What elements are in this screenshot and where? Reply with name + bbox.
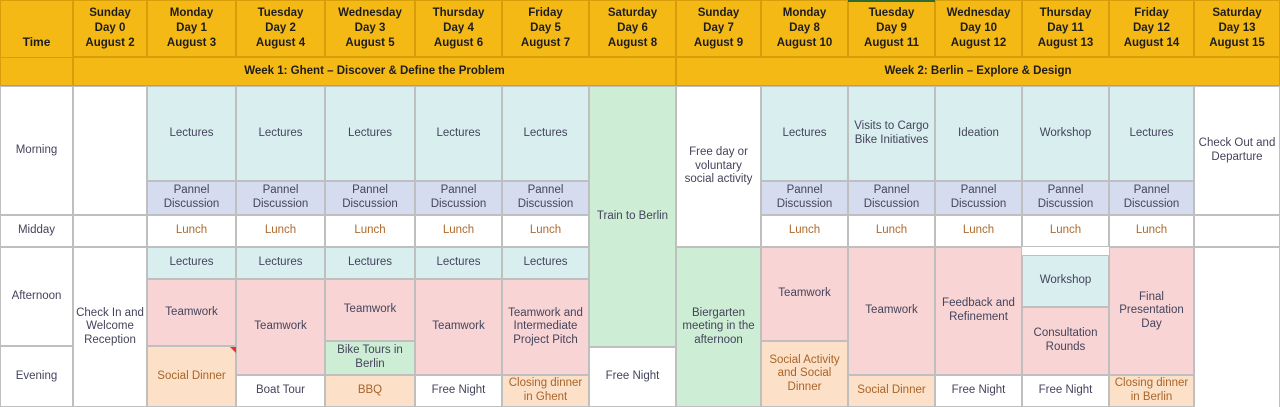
cell-day9-pannel-discussion[interactable]: Pannel Discussion xyxy=(848,181,935,215)
cell-day9-visits-cargo-bike[interactable]: Visits to Cargo Bike Initiatives xyxy=(848,86,935,181)
cell-day1-lectures-pm[interactable]: Lectures xyxy=(147,247,236,279)
active-column-indicator xyxy=(848,0,935,2)
cell-day11-pannel-discussion[interactable]: Pannel Discussion xyxy=(1022,181,1109,215)
header-daynum: Day 7 xyxy=(703,21,734,36)
cell-day5-closing-dinner-ghent[interactable]: Closing dinner in Ghent xyxy=(502,375,589,407)
header-daynum: Day 8 xyxy=(789,21,820,36)
cell-day10-feedback-refinement[interactable]: Feedback and Refinement xyxy=(935,247,1022,375)
header-weekday: Wednesday xyxy=(338,6,402,21)
header-weekday: Sunday xyxy=(698,6,740,21)
header-date: August 12 xyxy=(951,36,1007,51)
cell-day4-lectures-pm[interactable]: Lectures xyxy=(415,247,502,279)
cell-day6-free-night[interactable]: Free Night xyxy=(589,347,676,407)
header-day-8: Monday Day 8 August 10 xyxy=(761,0,848,57)
cell-day1-teamwork[interactable]: Teamwork xyxy=(147,279,236,346)
header-weekday: Saturday xyxy=(608,6,657,21)
cell-day11-lunch[interactable]: Lunch xyxy=(1022,215,1109,247)
header-day-2: Tuesday Day 2 August 4 xyxy=(236,0,325,57)
cell-day10-lunch[interactable]: Lunch xyxy=(935,215,1022,247)
cell-day3-teamwork[interactable]: Teamwork xyxy=(325,279,415,341)
cell-day3-bbq[interactable]: BBQ xyxy=(325,375,415,407)
header-date: August 13 xyxy=(1038,36,1094,51)
cell-day13-midday-empty[interactable] xyxy=(1194,215,1280,247)
header-day-1: Monday Day 1 August 3 xyxy=(147,0,236,57)
header-weekday: Tuesday xyxy=(869,6,915,21)
cell-day8-pannel-discussion[interactable]: Pannel Discussion xyxy=(761,181,848,215)
cell-day9-lunch[interactable]: Lunch xyxy=(848,215,935,247)
header-daynum: Day 5 xyxy=(530,21,561,36)
header-date: August 14 xyxy=(1124,36,1180,51)
header-weekday: Thursday xyxy=(433,6,485,21)
header-weekday: Friday xyxy=(528,6,563,21)
header-daynum: Day 1 xyxy=(176,21,207,36)
cell-day5-lunch[interactable]: Lunch xyxy=(502,215,589,247)
header-weekday: Thursday xyxy=(1040,6,1092,21)
header-date: August 9 xyxy=(694,36,743,51)
header-daynum: Day 6 xyxy=(617,21,648,36)
week-band-2: Week 2: Berlin – Explore & Design xyxy=(676,57,1280,86)
cell-day0-morning-empty[interactable] xyxy=(73,86,147,215)
cell-day11-consultation-rounds[interactable]: Consultation Rounds xyxy=(1022,307,1109,375)
cell-day13-checkout[interactable]: Check Out and Departure xyxy=(1194,86,1280,215)
header-weekday: Tuesday xyxy=(258,6,304,21)
row-label-evening: Evening xyxy=(0,346,73,407)
header-date: August 6 xyxy=(434,36,483,51)
header-day-9: Tuesday Day 9 August 11 xyxy=(848,0,935,57)
week-band-1: Week 1: Ghent – Discover & Define the Pr… xyxy=(73,57,676,86)
cell-day11-free-night[interactable]: Free Night xyxy=(1022,375,1109,407)
header-day-4: Thursday Day 4 August 6 xyxy=(415,0,502,57)
cell-day5-pannel-discussion[interactable]: Pannel Discussion xyxy=(502,181,589,215)
header-day-0: Sunday Day 0 August 2 xyxy=(73,0,147,57)
header-weekday: Friday xyxy=(1134,6,1169,21)
row-label-afternoon: Afternoon xyxy=(0,247,73,346)
header-date: August 5 xyxy=(345,36,394,51)
cell-day5-lectures-pm[interactable]: Lectures xyxy=(502,247,589,279)
cell-day3-pannel-discussion[interactable]: Pannel Discussion xyxy=(325,181,415,215)
cell-day9-teamwork[interactable]: Teamwork xyxy=(848,247,935,375)
cell-day10-ideation[interactable]: Ideation xyxy=(935,86,1022,181)
header-date: August 2 xyxy=(85,36,134,51)
header-daynum: Day 0 xyxy=(95,21,126,36)
row-label-midday: Midday xyxy=(0,215,73,247)
cell-day12-closing-dinner-berlin[interactable]: Closing dinner in Berlin xyxy=(1109,375,1194,407)
cell-day12-final-presentation[interactable]: Final Presentation Day xyxy=(1109,247,1194,375)
cell-day12-lectures[interactable]: Lectures xyxy=(1109,86,1194,181)
header-daynum: Day 11 xyxy=(1047,21,1083,36)
header-daynum: Day 9 xyxy=(876,21,907,36)
header-daynum: Day 4 xyxy=(443,21,474,36)
header-day-11: Thursday Day 11 August 13 xyxy=(1022,0,1109,57)
header-date: August 10 xyxy=(777,36,833,51)
header-date: August 8 xyxy=(608,36,657,51)
header-daynum: Day 3 xyxy=(355,21,386,36)
cell-day11-workshop[interactable]: Workshop xyxy=(1022,86,1109,181)
cell-day4-lunch[interactable]: Lunch xyxy=(415,215,502,247)
cell-day8-lectures[interactable]: Lectures xyxy=(761,86,848,181)
cell-day8-teamwork[interactable]: Teamwork xyxy=(761,247,848,341)
header-weekday: Monday xyxy=(170,6,213,21)
cell-day3-lectures[interactable]: Lectures xyxy=(325,86,415,181)
header-weekday: Saturday xyxy=(1212,6,1261,21)
cell-day8-social-activity-dinner[interactable]: Social Activity and Social Dinner xyxy=(761,341,848,407)
cell-day2-lunch[interactable]: Lunch xyxy=(236,215,325,247)
header-date: August 15 xyxy=(1209,36,1265,51)
header-day-3: Wednesday Day 3 August 5 xyxy=(325,0,415,57)
row-label-morning: Morning xyxy=(0,86,73,215)
cell-day5-teamwork-pitch[interactable]: Teamwork and Intermediate Project Pitch xyxy=(502,279,589,375)
cell-day8-lunch[interactable]: Lunch xyxy=(761,215,848,247)
cell-day2-boat-tour[interactable]: Boat Tour xyxy=(236,375,325,407)
cell-day11-workshop-pm[interactable]: Workshop xyxy=(1022,255,1109,307)
schedule-sheet: Time Sunday Day 0 August 2 Monday Day 1 … xyxy=(0,0,1280,407)
cell-day10-free-night[interactable]: Free Night xyxy=(935,375,1022,407)
cell-day0-checkin[interactable]: Check In and Welcome Reception xyxy=(73,247,147,407)
cell-day6-train-to-berlin[interactable]: Train to Berlin xyxy=(589,86,676,347)
cell-day13-afternoon-empty[interactable] xyxy=(1194,247,1280,407)
header-daynum: Day 2 xyxy=(265,21,296,36)
header-day-5: Friday Day 5 August 7 xyxy=(502,0,589,57)
cell-day3-lunch[interactable]: Lunch xyxy=(325,215,415,247)
cell-day1-lectures[interactable]: Lectures xyxy=(147,86,236,181)
cell-day7-free-day[interactable]: Free day or voluntary social activity xyxy=(676,86,761,247)
cell-day7-biergarten[interactable]: Biergarten meeting in the afternoon xyxy=(676,247,761,407)
header-daynum: Day 13 xyxy=(1218,21,1255,36)
cell-day1-lunch[interactable]: Lunch xyxy=(147,215,236,247)
header-daynum: Day 10 xyxy=(960,21,997,36)
cell-day5-lectures[interactable]: Lectures xyxy=(502,86,589,181)
header-day-13: Saturday Day 13 August 15 xyxy=(1194,0,1280,57)
cell-day4-pannel-discussion[interactable]: Pannel Discussion xyxy=(415,181,502,215)
header-date: August 3 xyxy=(167,36,216,51)
header-weekday: Wednesday xyxy=(947,6,1011,21)
header-day-7: Sunday Day 7 August 9 xyxy=(676,0,761,57)
cell-day10-pannel-discussion[interactable]: Pannel Discussion xyxy=(935,181,1022,215)
header-daynum: Day 12 xyxy=(1133,21,1170,36)
cell-day2-pannel-discussion[interactable]: Pannel Discussion xyxy=(236,181,325,215)
time-header-spacer xyxy=(0,57,73,86)
cell-day2-lectures-pm[interactable]: Lectures xyxy=(236,247,325,279)
header-weekday: Sunday xyxy=(89,6,131,21)
cell-day4-lectures[interactable]: Lectures xyxy=(415,86,502,181)
cell-day12-pannel-discussion[interactable]: Pannel Discussion xyxy=(1109,181,1194,215)
cell-day9-social-dinner[interactable]: Social Dinner xyxy=(848,375,935,407)
header-date: August 4 xyxy=(256,36,305,51)
cell-day3-bike-tours[interactable]: Bike Tours in Berlin xyxy=(325,341,415,375)
header-day-10: Wednesday Day 10 August 12 xyxy=(935,0,1022,57)
header-date: August 7 xyxy=(521,36,570,51)
cell-day1-pannel-discussion[interactable]: Pannel Discussion xyxy=(147,181,236,215)
header-weekday: Monday xyxy=(783,6,826,21)
cell-day2-teamwork[interactable]: Teamwork xyxy=(236,279,325,375)
cell-day4-teamwork[interactable]: Teamwork xyxy=(415,279,502,375)
header-day-6: Saturday Day 6 August 8 xyxy=(589,0,676,57)
header-day-12: Friday Day 12 August 14 xyxy=(1109,0,1194,57)
cell-day12-lunch[interactable]: Lunch xyxy=(1109,215,1194,247)
cell-day2-lectures[interactable]: Lectures xyxy=(236,86,325,181)
cell-day1-social-dinner[interactable]: Social Dinner xyxy=(147,346,236,407)
cell-day4-free-night[interactable]: Free Night xyxy=(415,375,502,407)
header-date: August 11 xyxy=(864,36,919,51)
cell-day0-midday-empty[interactable] xyxy=(73,215,147,247)
cell-day3-lectures-pm[interactable]: Lectures xyxy=(325,247,415,279)
